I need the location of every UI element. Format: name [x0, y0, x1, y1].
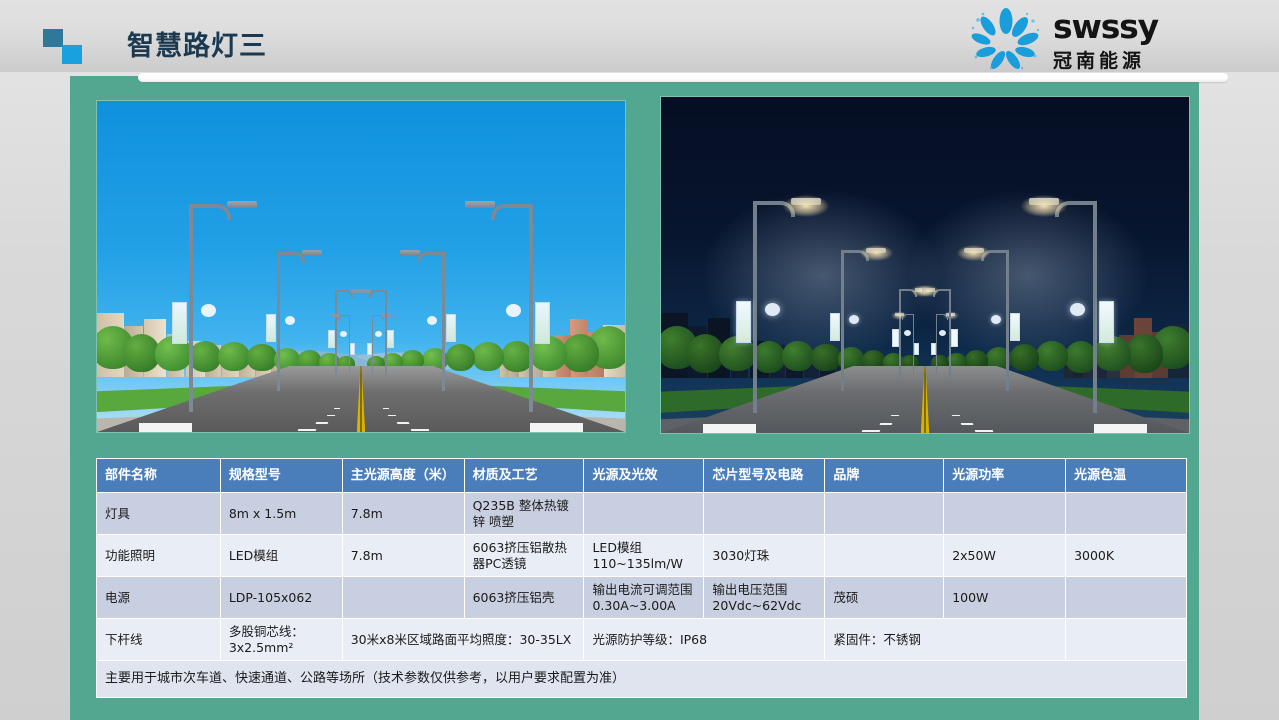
- logo-text: swssy 冠南能源: [1053, 10, 1158, 73]
- table-cell: 灯具: [97, 493, 221, 535]
- pole-base-plate: [139, 423, 192, 432]
- street-lamp-right-2: [442, 252, 445, 391]
- lane-dash: [961, 423, 973, 425]
- slide-header: 智慧路灯三 swssy 冠南能: [0, 0, 1279, 72]
- brand-logo: swssy 冠南能源: [967, 6, 1217, 74]
- lane-dash: [880, 423, 892, 425]
- street-lamp-right-4: [349, 315, 351, 375]
- night-scene: [661, 97, 1189, 433]
- decor-square-dark: [43, 29, 63, 47]
- table-cell: [1066, 619, 1187, 661]
- day-scene: [97, 101, 625, 432]
- lane-dash: [297, 429, 316, 431]
- table-row: 灯具 8m x 1.5m 7.8m Q235B 整体热镀锌 喷塑: [97, 493, 1187, 535]
- table-cell: [825, 493, 944, 535]
- lane-dash: [975, 430, 994, 432]
- table-cell: 7.8m: [342, 493, 464, 535]
- logo-wordmark: swssy: [1053, 10, 1158, 44]
- table-cell: 3030灯珠: [704, 535, 825, 577]
- street-lamp-right-3: [385, 290, 387, 379]
- lane-dash: [326, 415, 335, 416]
- table-header: 部件名称 规格型号 主光源高度（米） 材质及工艺 光源及光效 芯片型号及电路 品…: [97, 459, 1187, 493]
- image-nighttime-street-lighting-render: [660, 96, 1190, 434]
- column-header-color-temp: 光源色温: [1066, 459, 1187, 493]
- street-lamp-left-3: [335, 290, 337, 379]
- street-lamp-left-3: [899, 289, 901, 380]
- table-cell: LDP-105x062: [220, 577, 342, 619]
- header-divider-rule: [138, 73, 1228, 82]
- table-cell: 电源: [97, 577, 221, 619]
- column-header-light-efficacy: 光源及光效: [584, 459, 704, 493]
- street-lamp-right-1: [529, 204, 533, 413]
- table-cell: 多股铜芯线：3x2.5mm²: [220, 619, 342, 661]
- pole-base-plate: [703, 424, 756, 433]
- table-row: 电源 LDP-105x062 6063挤压铝壳 输出电流可调范围0.30A~3.…: [97, 577, 1187, 619]
- table-cell: 茂硕: [825, 577, 944, 619]
- lane-dash: [388, 415, 397, 416]
- decorative-squares-icon: [43, 29, 89, 67]
- decor-square-bright: [62, 45, 82, 64]
- table-cell: [584, 493, 704, 535]
- table-cell: Q235B 整体热镀锌 喷塑: [464, 493, 584, 535]
- page-title: 智慧路灯三: [127, 24, 267, 63]
- lane-dash: [397, 422, 409, 424]
- ground: [97, 366, 625, 432]
- street-lamp-right-3: [949, 289, 951, 380]
- table-cell: [342, 577, 464, 619]
- table-cell: 6063挤压铝散热器PC透镜: [464, 535, 584, 577]
- table-cell: 6063挤压铝壳: [464, 577, 584, 619]
- street-lamp-right-2: [1006, 250, 1009, 391]
- table-footer-note: 主要用于城市次车道、快速通道、公路等场所（技术参数仅供参考，以用户要求配置为准）: [97, 661, 1187, 698]
- table-row: 功能照明 LED模组 7.8m 6063挤压铝散热器PC透镜 LED模组110~…: [97, 535, 1187, 577]
- street-lamp-left-1: [189, 204, 193, 413]
- specification-table: 部件名称 规格型号 主光源高度（米） 材质及工艺 光源及光效 芯片型号及电路 品…: [96, 458, 1187, 698]
- table-cell: 下杆线: [97, 619, 221, 661]
- table-cell: 功能照明: [97, 535, 221, 577]
- table-cell: [1066, 577, 1187, 619]
- water-droplet-burst-logo-icon: [967, 8, 1045, 70]
- table-cell: [1066, 493, 1187, 535]
- street-lamp-left-4: [936, 314, 938, 374]
- ground: [661, 366, 1189, 433]
- table-cell: [825, 535, 944, 577]
- pole-base-plate: [1094, 424, 1147, 433]
- table-row: 下杆线 多股铜芯线：3x2.5mm² 30米x8米区域路面平均照度：30-35L…: [97, 619, 1187, 661]
- column-header-part-name: 部件名称: [97, 459, 221, 493]
- column-header-brand: 品牌: [825, 459, 944, 493]
- table-cell: 100W: [944, 577, 1066, 619]
- table-cell: 输出电流可调范围0.30A~3.00A: [584, 577, 704, 619]
- lane-dash: [861, 430, 880, 432]
- table-cell: LED模组: [220, 535, 342, 577]
- column-header-chip-circuit: 芯片型号及电路: [704, 459, 825, 493]
- pole-base-plate: [530, 423, 583, 432]
- table-cell: 2x50W: [944, 535, 1066, 577]
- table-cell: 3000K: [1066, 535, 1187, 577]
- street-lamp-left-4: [372, 315, 374, 375]
- image-daytime-street-lighting-render: [96, 100, 626, 433]
- street-lamp-left-2: [277, 252, 280, 391]
- column-header-power: 光源功率: [944, 459, 1066, 493]
- table-header-row: 部件名称 规格型号 主光源高度（米） 材质及工艺 光源及光效 芯片型号及电路 品…: [97, 459, 1187, 493]
- lane-dash: [411, 429, 430, 431]
- table-cell: [704, 493, 825, 535]
- table-cell: 30米x8米区域路面平均照度：30-35LX: [342, 619, 584, 661]
- table-cell: [944, 493, 1066, 535]
- table-cell: LED模组110~135lm/W: [584, 535, 704, 577]
- column-header-light-height: 主光源高度（米）: [342, 459, 464, 493]
- table-cell: 光源防护等级：IP68: [584, 619, 825, 661]
- column-header-material: 材质及工艺: [464, 459, 584, 493]
- table-body: 灯具 8m x 1.5m 7.8m Q235B 整体热镀锌 喷塑 功能照明 LE…: [97, 493, 1187, 698]
- column-header-spec-model: 规格型号: [220, 459, 342, 493]
- street-lamp-right-4: [913, 314, 915, 374]
- lane-dash: [316, 422, 328, 424]
- table-cell: 紧固件：不锈钢: [825, 619, 1066, 661]
- street-lamp-left-1: [753, 201, 757, 413]
- logo-subtitle: 冠南能源: [1053, 46, 1158, 73]
- table-cell: 7.8m: [342, 535, 464, 577]
- street-lamp-right-1: [1093, 201, 1097, 413]
- table-footer-row: 主要用于城市次车道、快速通道、公路等场所（技术参数仅供参考，以用户要求配置为准）: [97, 661, 1187, 698]
- table-cell: 8m x 1.5m: [220, 493, 342, 535]
- table-cell: 输出电压范围20Vdc~62Vdc: [704, 577, 825, 619]
- street-lamp-left-2: [841, 250, 844, 391]
